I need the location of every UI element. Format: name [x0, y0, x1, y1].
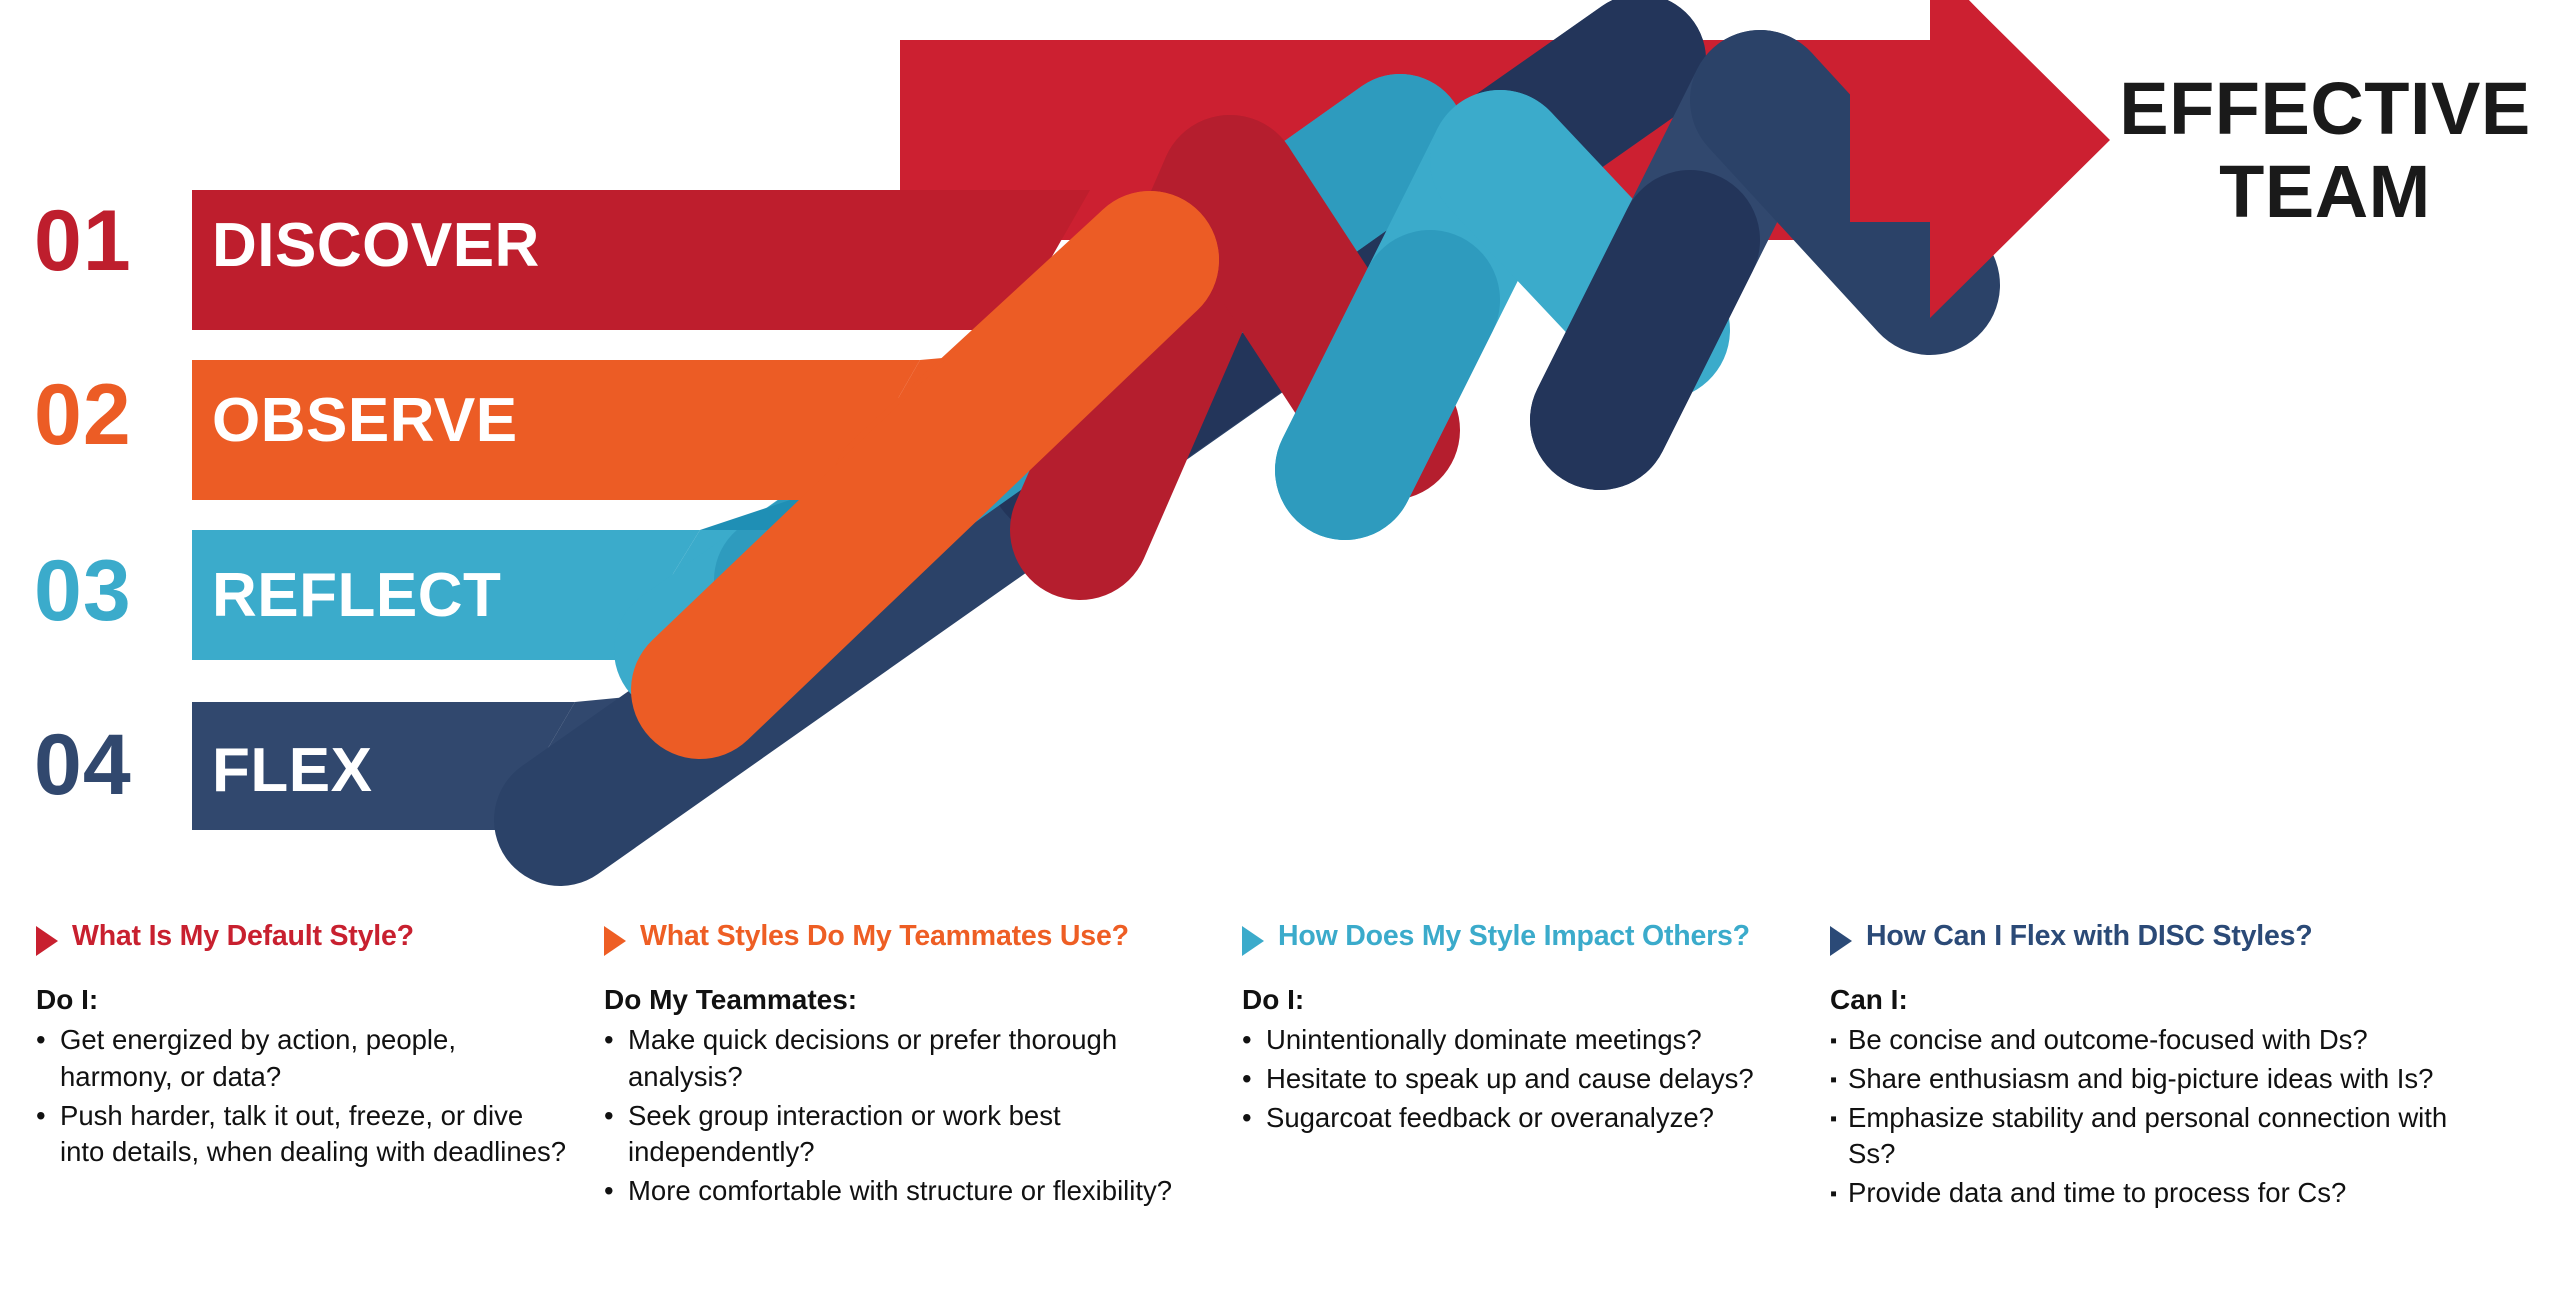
list-item-text: Be concise and outcome-focused with Ds?: [1848, 1024, 2368, 1055]
list-item: •More comfortable with structure or flex…: [604, 1173, 1204, 1210]
column-bullet-list: •Make quick decisions or prefer thorough…: [604, 1022, 1204, 1209]
list-item: •Seek group interaction or work best ind…: [604, 1098, 1204, 1171]
bullet-icon: •: [604, 1173, 628, 1210]
column-bullet-list: ▪Be concise and outcome-focused with Ds?…: [1830, 1022, 2494, 1211]
bullet-icon: •: [1242, 1022, 1266, 1059]
column-bullet-list: •Get energized by action, people, harmon…: [36, 1022, 568, 1170]
column-heading: What Styles Do My Teammates Use?: [604, 920, 1204, 956]
column-teammate-styles: What Styles Do My Teammates Use? Do My T…: [594, 920, 1230, 1211]
list-item: ▪Provide data and time to process for Cs…: [1830, 1175, 2494, 1212]
list-item-text: Emphasize stability and personal connect…: [1848, 1102, 2447, 1170]
column-style-impact: How Does My Style Impact Others? Do I: •…: [1230, 920, 1820, 1138]
list-item-text: Hesitate to speak up and cause delays?: [1266, 1063, 1754, 1094]
bullet-icon: •: [604, 1098, 628, 1135]
column-heading-text: How Can I Flex with DISC Styles?: [1866, 920, 2313, 953]
column-subhead: Can I:: [1830, 982, 2494, 1018]
column-subhead: Do I:: [1242, 982, 1794, 1018]
step-label-observe: OBSERVE: [212, 390, 518, 452]
column-default-style: What Is My Default Style? Do I: •Get ene…: [0, 920, 594, 1173]
list-item-text: Make quick decisions or prefer thorough …: [628, 1024, 1117, 1092]
list-item-text: Seek group interaction or work best inde…: [628, 1100, 1061, 1168]
list-item: ▪Share enthusiasm and big-picture ideas …: [1830, 1061, 2494, 1098]
step-label-flex: FLEX: [212, 740, 372, 802]
list-item-text: More comfortable with structure or flexi…: [628, 1175, 1172, 1206]
bullet-icon: ▪: [1830, 1067, 1848, 1094]
bullet-icon: •: [604, 1022, 628, 1059]
column-heading: What Is My Default Style?: [36, 920, 568, 956]
outcome-line-1: EFFECTIVE: [2110, 68, 2540, 151]
list-item: ▪Be concise and outcome-focused with Ds?: [1830, 1022, 2494, 1059]
list-item-text: Provide data and time to process for Cs?: [1848, 1177, 2346, 1208]
list-item: •Sugarcoat feedback or overanalyze?: [1242, 1100, 1794, 1137]
list-item-text: Push harder, talk it out, freeze, or div…: [60, 1100, 566, 1168]
bullet-icon: •: [1242, 1061, 1266, 1098]
list-item-text: Sugarcoat feedback or overanalyze?: [1266, 1102, 1714, 1133]
step-label-discover: DISCOVER: [212, 215, 540, 277]
step-number-04: 04: [34, 722, 132, 808]
outcome-line-2: TEAM: [2110, 151, 2540, 234]
list-item: •Make quick decisions or prefer thorough…: [604, 1022, 1204, 1095]
column-subhead: Do My Teammates:: [604, 982, 1204, 1018]
bullet-icon: ▪: [1830, 1028, 1848, 1055]
bullet-icon: •: [36, 1022, 60, 1059]
step-number-01: 01: [34, 198, 132, 284]
column-heading-text: What Is My Default Style?: [72, 920, 414, 953]
column-heading-text: What Styles Do My Teammates Use?: [640, 920, 1129, 953]
process-ribbon-graphic: 01 02 03 04 DISCOVER OBSERVE REFLECT FLE…: [0, 0, 2560, 900]
list-item-text: Share enthusiasm and big-picture ideas w…: [1848, 1063, 2433, 1094]
list-item-text: Get energized by action, people, harmony…: [60, 1024, 456, 1092]
bullet-icon: ▪: [1830, 1106, 1848, 1133]
step-number-02: 02: [34, 372, 132, 458]
step-label-reflect: REFLECT: [212, 565, 501, 627]
column-flex-disc: How Can I Flex with DISC Styles? Can I: …: [1820, 920, 2520, 1213]
play-triangle-icon: [1242, 926, 1264, 956]
question-columns: What Is My Default Style? Do I: •Get ene…: [0, 920, 2560, 1293]
list-item: •Unintentionally dominate meetings?: [1242, 1022, 1794, 1059]
bullet-icon: •: [1242, 1100, 1266, 1137]
list-item-text: Unintentionally dominate meetings?: [1266, 1024, 1702, 1055]
column-heading-text: How Does My Style Impact Others?: [1278, 920, 1750, 953]
play-triangle-icon: [1830, 926, 1852, 956]
bullet-icon: ▪: [1830, 1181, 1848, 1208]
column-heading: How Can I Flex with DISC Styles?: [1830, 920, 2494, 956]
list-item: •Get energized by action, people, harmon…: [36, 1022, 568, 1095]
bullet-icon: •: [36, 1098, 60, 1135]
list-item: ▪Emphasize stability and personal connec…: [1830, 1100, 2494, 1173]
column-subhead: Do I:: [36, 982, 568, 1018]
column-heading: How Does My Style Impact Others?: [1242, 920, 1794, 956]
play-triangle-icon: [604, 926, 626, 956]
list-item: •Push harder, talk it out, freeze, or di…: [36, 1098, 568, 1171]
play-triangle-icon: [36, 926, 58, 956]
column-bullet-list: •Unintentionally dominate meetings? •Hes…: [1242, 1022, 1794, 1136]
step-number-03: 03: [34, 548, 132, 634]
list-item: •Hesitate to speak up and cause delays?: [1242, 1061, 1794, 1098]
outcome-title: EFFECTIVE TEAM: [2110, 68, 2540, 234]
